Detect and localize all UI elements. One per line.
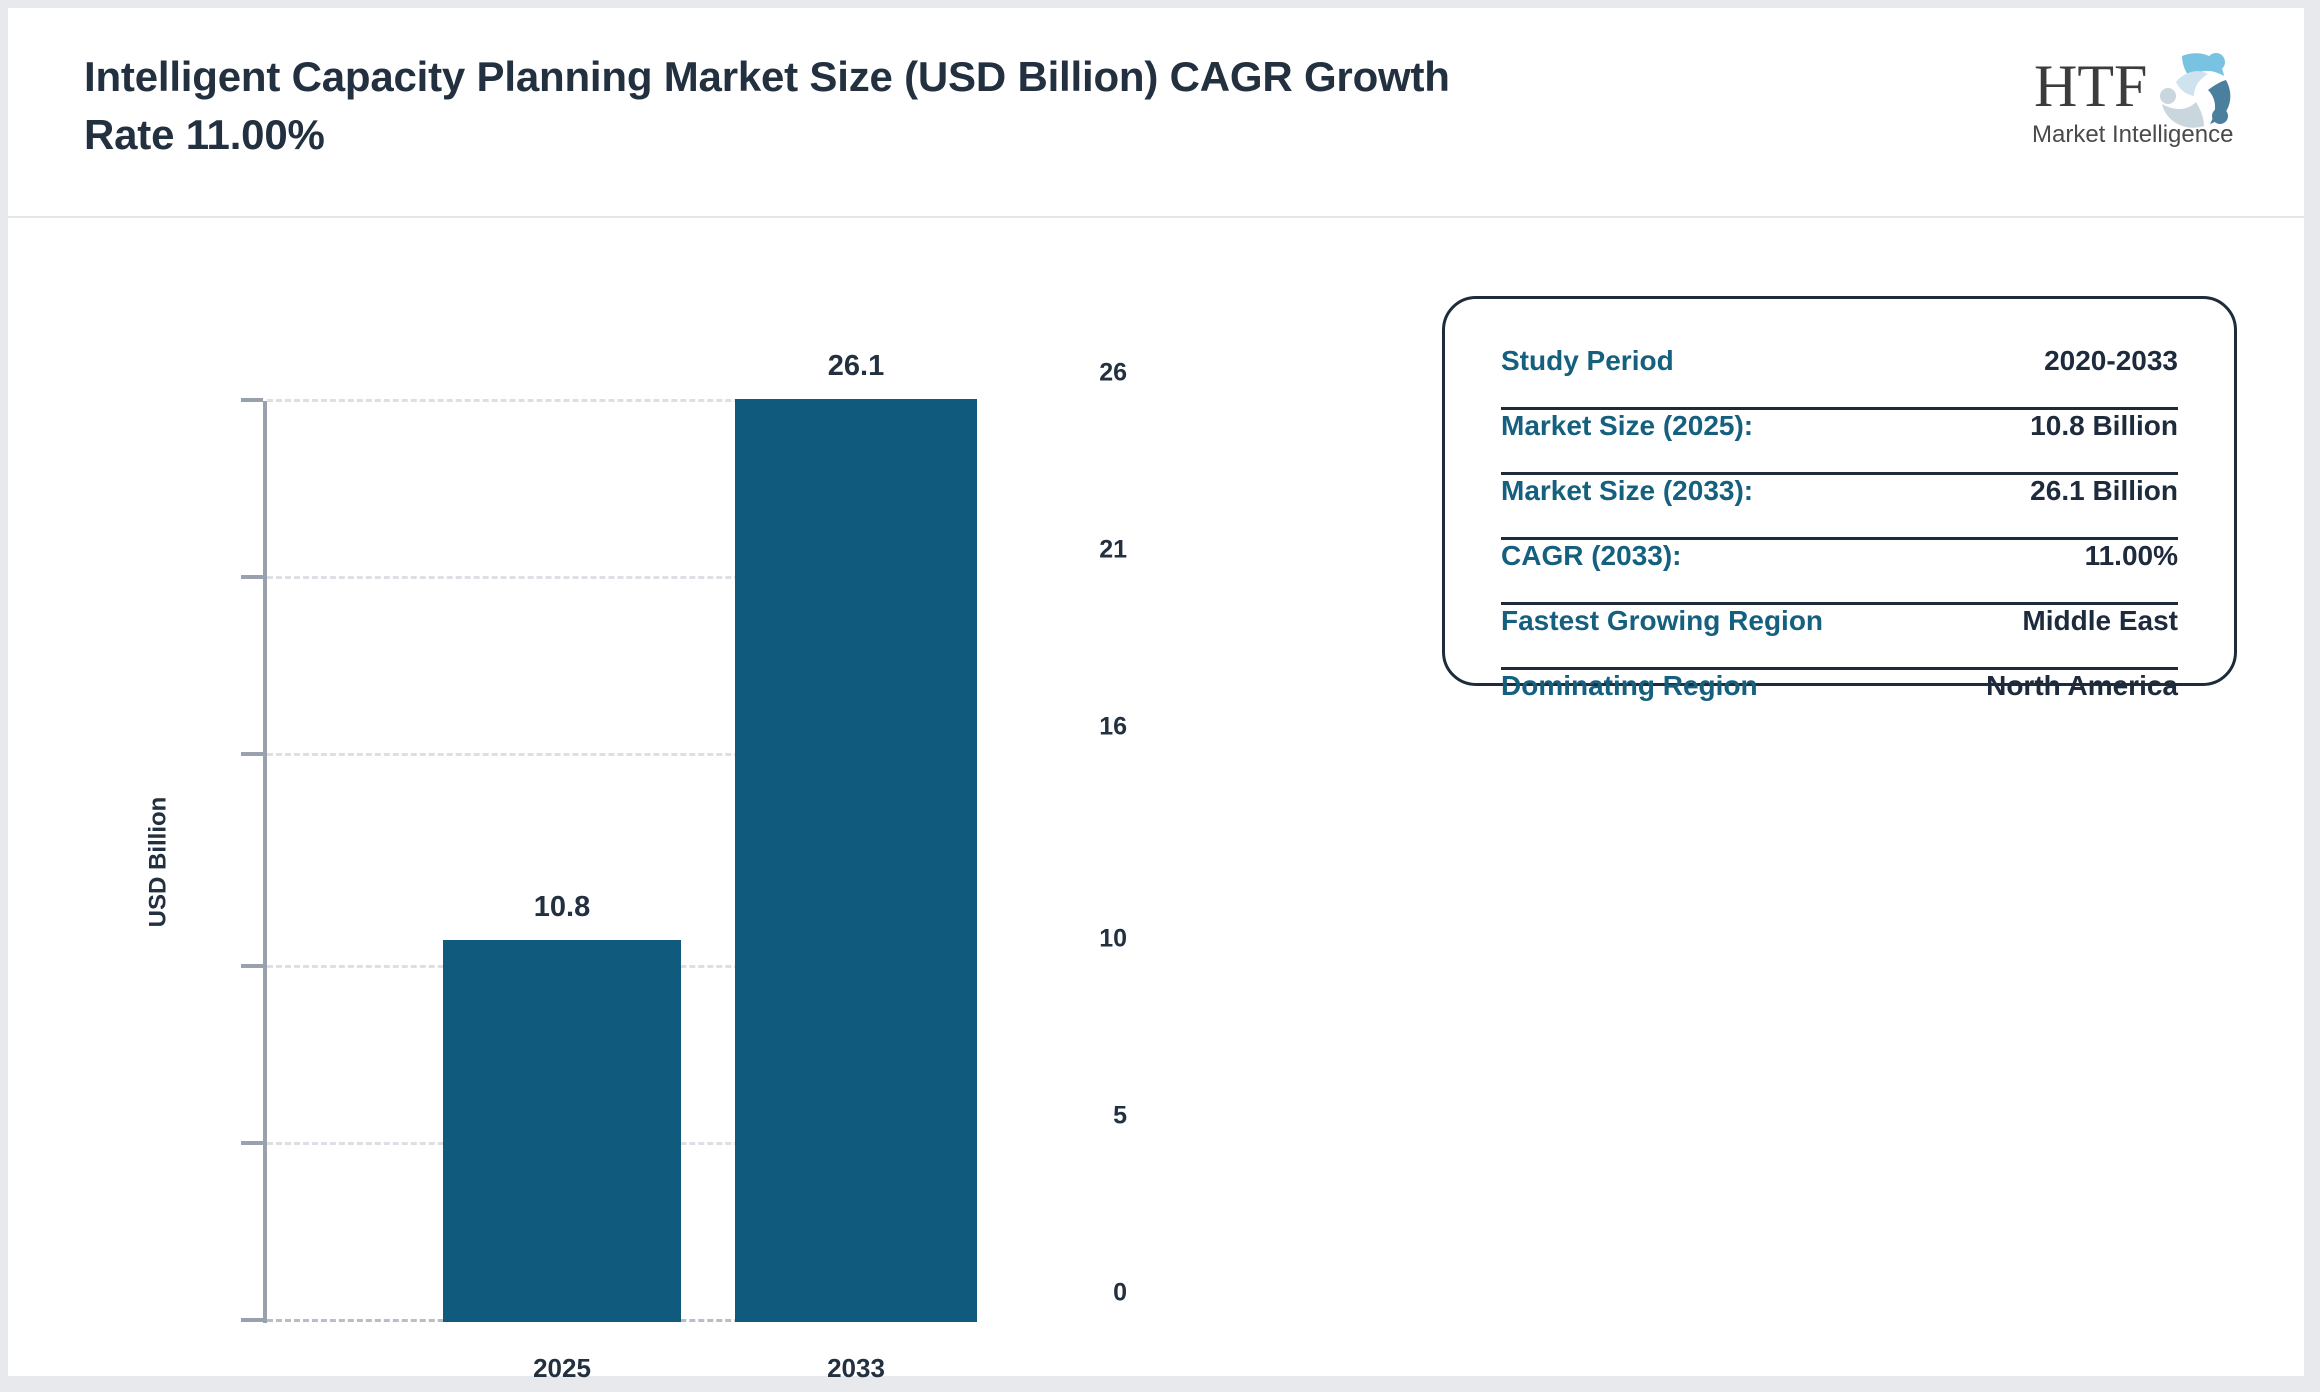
y-tick-label-16: 16: [1037, 713, 1127, 742]
summary-label: Market Size (2025):: [1501, 410, 1753, 442]
y-tick-label-10: 10: [1037, 925, 1127, 954]
y-tick-label-0: 0: [1037, 1279, 1127, 1308]
summary-row-market-size-2033: Market Size (2033): 26.1 Billion: [1501, 475, 2178, 540]
bar-value-2025: 10.8: [443, 891, 681, 924]
summary-label: Market Size (2033):: [1501, 475, 1753, 507]
y-tick-label-5: 5: [1037, 1102, 1127, 1131]
tick-mark-0: [241, 1318, 263, 1322]
summary-row-study-period: Study Period 2020-2033: [1501, 345, 2178, 410]
tick-mark-26: [241, 398, 263, 402]
chart-plot-area: USD Billion 0 5 10 16 21 26: [263, 402, 1163, 1322]
x-tick-label-2025: 2025: [443, 1353, 681, 1384]
x-tick-label-2033: 2033: [735, 1353, 977, 1384]
summary-value: 26.1 Billion: [2030, 475, 2178, 507]
summary-label: Dominating Region: [1501, 670, 1758, 702]
bar-value-2033: 26.1: [735, 350, 977, 383]
y-axis-line: [263, 401, 267, 1323]
summary-value: 11.00%: [2085, 540, 2178, 572]
bar-2025[interactable]: [443, 940, 681, 1322]
bar-2033[interactable]: [735, 399, 977, 1322]
summary-row-dominating-region: Dominating Region North America: [1501, 670, 2178, 732]
summary-value: 2020-2033: [2044, 345, 2178, 377]
tick-mark-21: [241, 575, 263, 579]
summary-row-cagr: CAGR (2033): 11.00%: [1501, 540, 2178, 605]
y-axis-title: USD Billion: [144, 797, 172, 928]
y-tick-label-26: 26: [1037, 359, 1127, 388]
svg-text:HTF: HTF: [2034, 53, 2147, 119]
summary-value: Middle East: [2022, 605, 2178, 637]
bar-chart: USD Billion 0 5 10 16 21 26: [8, 220, 1408, 1376]
summary-row-fastest-growing-region: Fastest Growing Region Middle East: [1501, 605, 2178, 670]
summary-label: CAGR (2033):: [1501, 540, 1681, 572]
tick-mark-5: [241, 1141, 263, 1145]
page-card: Intelligent Capacity Planning Market Siz…: [8, 8, 2304, 1376]
svg-text:Market Intelligence: Market Intelligence: [2032, 121, 2233, 148]
summary-row-market-size-2025: Market Size (2025): 10.8 Billion: [1501, 410, 2178, 475]
summary-value: 10.8 Billion: [2030, 410, 2178, 442]
summary-value: North America: [1986, 670, 2178, 702]
market-summary-card: Study Period 2020-2033 Market Size (2025…: [1442, 296, 2237, 686]
y-tick-label-21: 21: [1037, 536, 1127, 565]
tick-mark-10: [241, 964, 263, 968]
htf-market-intelligence-logo: HTF Market Intelligence: [2026, 44, 2266, 152]
tick-mark-16: [241, 752, 263, 756]
page-title: Intelligent Capacity Planning Market Siz…: [84, 48, 1504, 164]
summary-label: Study Period: [1501, 345, 1674, 377]
summary-label: Fastest Growing Region: [1501, 605, 1823, 637]
page-header: Intelligent Capacity Planning Market Siz…: [8, 8, 2304, 218]
